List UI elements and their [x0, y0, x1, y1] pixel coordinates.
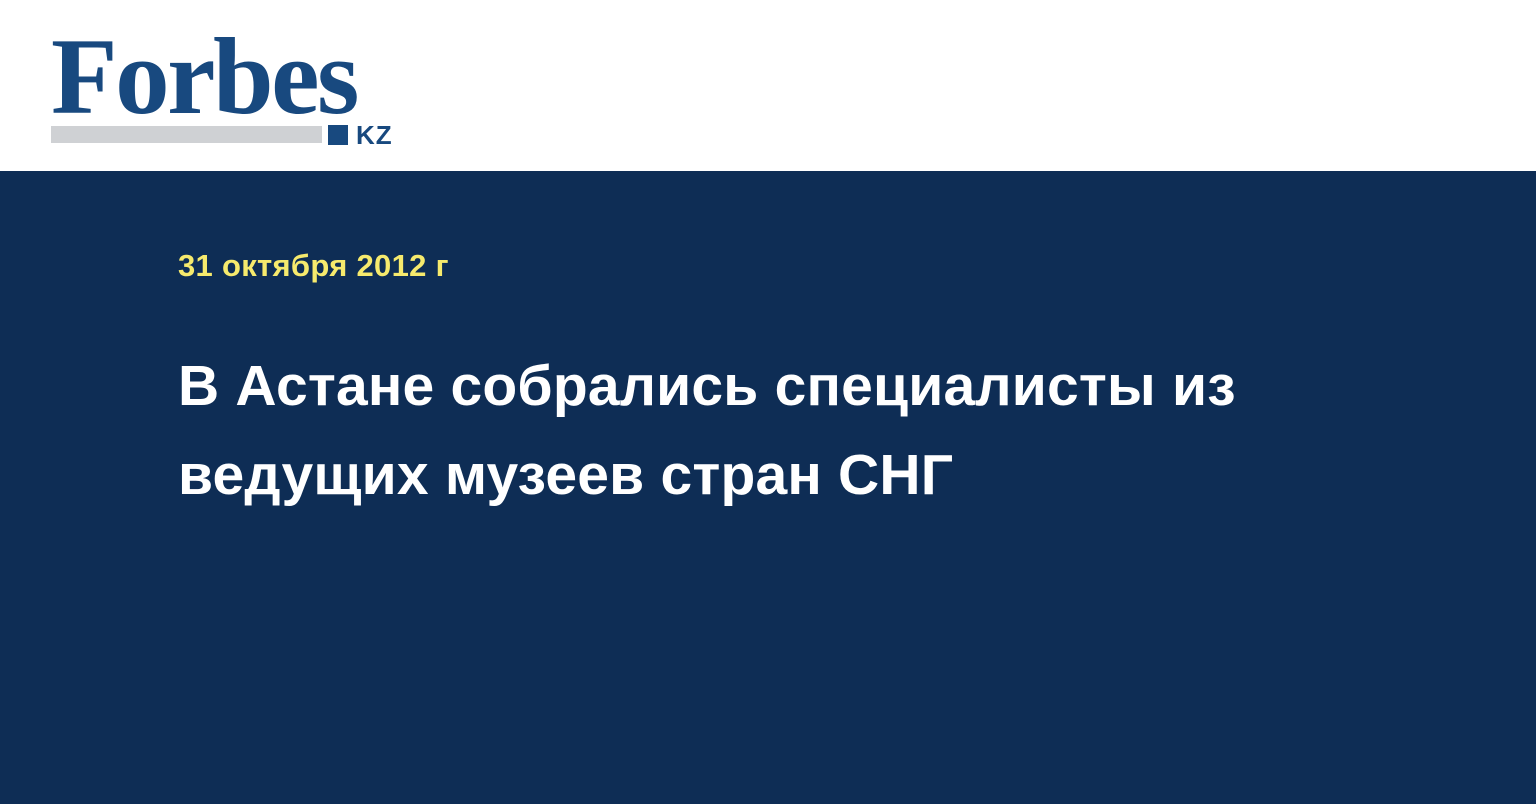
article-headline: В Астане собрались специалисты из ведущи… [178, 342, 1358, 520]
article-card-page: Forbes KZ 31 октября 2012 г В Астане соб… [0, 0, 1536, 804]
logo-kz-suffix: KZ [356, 123, 393, 147]
forbes-wordmark: Forbes [51, 24, 357, 130]
logo-underbar [51, 126, 322, 143]
forbes-kz-logo[interactable]: Forbes KZ [51, 24, 411, 148]
article-publish-date: 31 октября 2012 г [178, 247, 449, 285]
logo-square-icon [328, 125, 348, 145]
site-header: Forbes KZ [0, 0, 1536, 171]
article-hero: 31 октября 2012 г В Астане собрались спе… [0, 171, 1536, 804]
